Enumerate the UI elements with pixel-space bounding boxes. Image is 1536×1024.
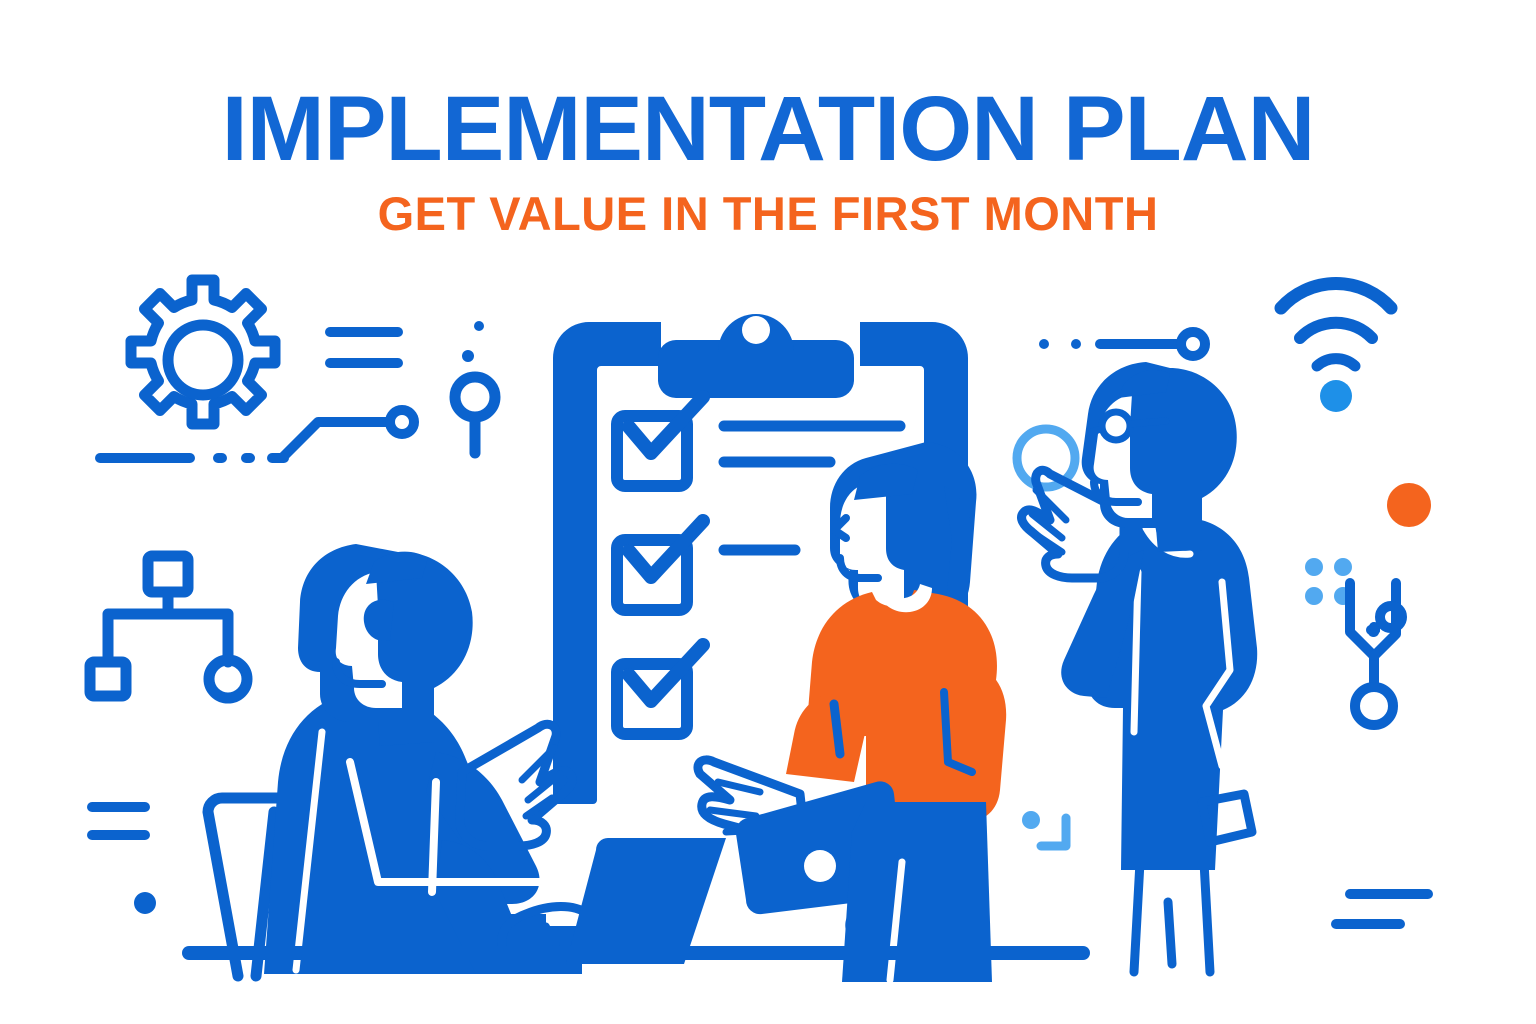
poster-canvas: IMPLEMENTATION PLAN GET VALUE IN THE FIR… — [0, 0, 1536, 1024]
seated-man-with-laptop — [264, 544, 588, 974]
standing-man-with-glasses — [1022, 362, 1258, 972]
equals-lines-icon — [330, 332, 398, 363]
desk-surface — [182, 946, 1090, 960]
gear-icon — [131, 280, 275, 424]
standing-woman-with-laptop — [698, 442, 1006, 982]
dots-pair-icon — [462, 321, 484, 362]
desk-laptop-center — [566, 838, 726, 964]
wifi-icon — [1281, 284, 1391, 412]
teamwork-checklist-illustration: .bl { fill: #0B63CE; } .blS { fill: none… — [0, 262, 1536, 1024]
page-title: IMPLEMENTATION PLAN — [0, 84, 1536, 174]
checkbox-item-1 — [617, 397, 703, 486]
orange-dot-icon — [1387, 483, 1431, 527]
circuit-fork-icon — [1350, 583, 1402, 725]
two-lines-icon-right — [1336, 894, 1428, 924]
checkbox-item-3 — [617, 645, 703, 734]
page-subtitle: GET VALUE IN THE FIRST MONTH — [0, 190, 1536, 237]
circuit-node-line-icon — [283, 410, 414, 457]
title-block: IMPLEMENTATION PLAN GET VALUE IN THE FIR… — [0, 84, 1536, 237]
corner-bracket-icon — [1022, 811, 1066, 846]
dot-icon — [134, 892, 156, 914]
dot-grid-icon — [1305, 558, 1352, 605]
org-chart-icon — [90, 556, 247, 698]
pin-circle-icon — [455, 377, 495, 453]
node-line-icon — [1039, 332, 1205, 356]
checkbox-item-2 — [617, 521, 703, 610]
two-lines-icon — [92, 807, 145, 835]
